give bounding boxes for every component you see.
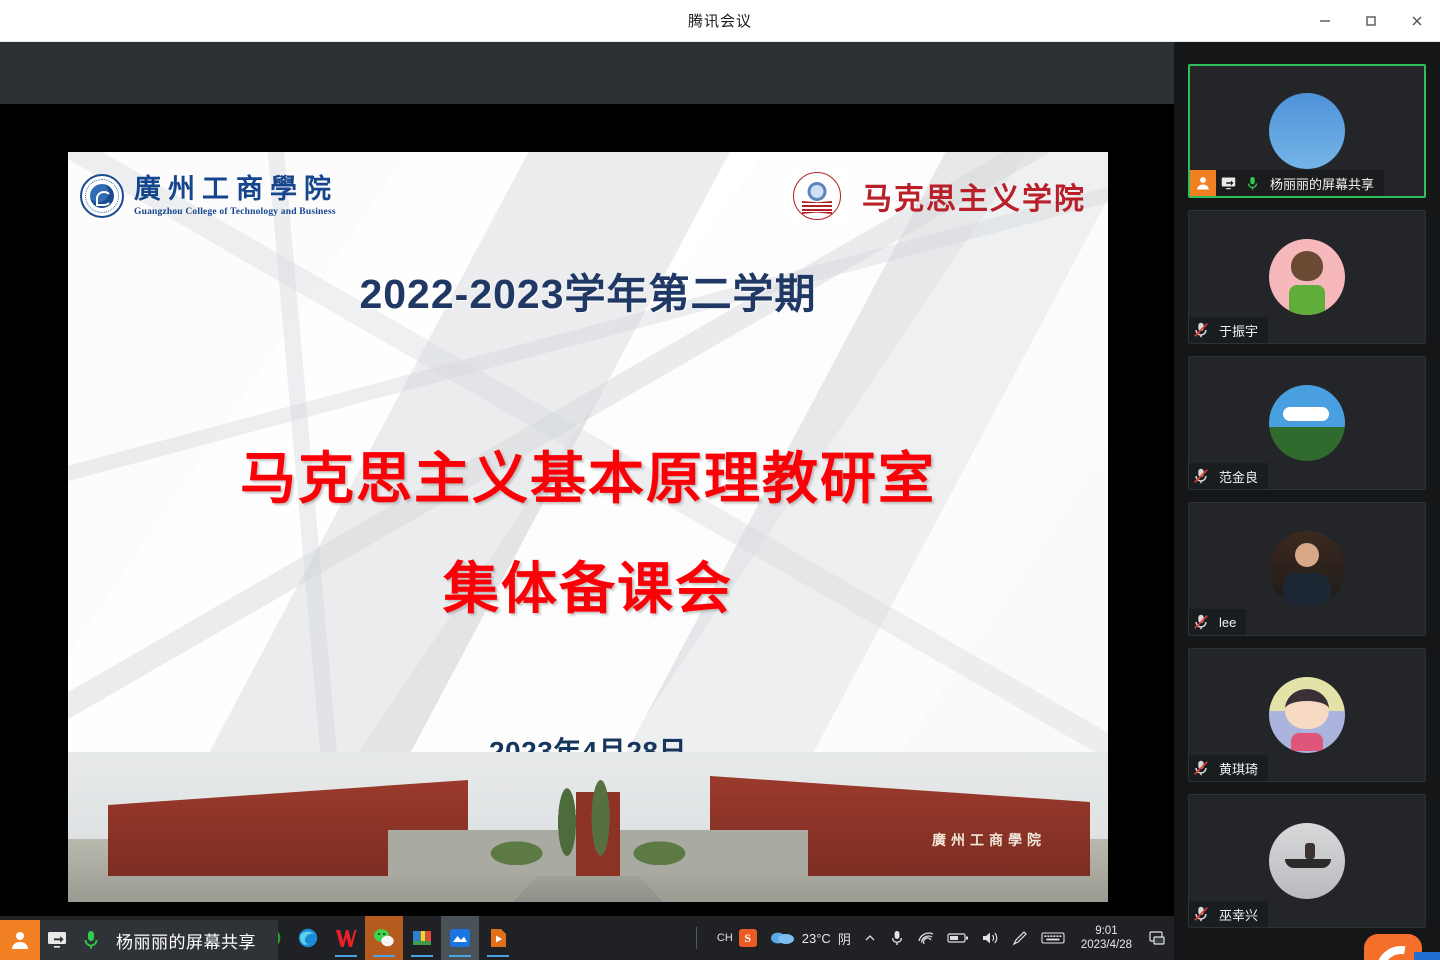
window-controls <box>1302 0 1440 42</box>
microphone-muted-icon <box>1189 321 1213 339</box>
chevron-up-icon[interactable] <box>863 931 877 945</box>
window-title: 腾讯会议 <box>688 10 752 31</box>
microphone-on-icon <box>1240 175 1264 192</box>
presenter-name: 杨丽丽的屏幕共享 <box>116 928 256 953</box>
ime-label: CH <box>717 932 733 944</box>
remote-desktop: 廣州工商學院 Guangzhou College of Technology a… <box>0 104 1174 960</box>
participant-tile-huangqiqi[interactable]: 黄琪琦 <box>1188 648 1426 782</box>
avatar <box>1269 677 1345 753</box>
participant-tile-lee[interactable]: lee <box>1188 502 1426 636</box>
tile-badge: 范金良 <box>1189 463 1268 489</box>
title-bar: 腾讯会议 <box>0 0 1440 42</box>
university-name-cn: 廣州工商學院 <box>134 175 338 205</box>
keyboard-icon[interactable] <box>1041 931 1065 945</box>
maximize-button[interactable] <box>1348 0 1394 42</box>
weather-indicator[interactable]: 23°C 阴 <box>769 929 851 948</box>
microphone-muted-icon <box>1189 759 1213 777</box>
microphone-muted-icon <box>1189 905 1213 923</box>
close-button[interactable] <box>1394 0 1440 42</box>
tile-badge: lee <box>1189 609 1246 635</box>
slide-title-line1: 马克思主义基本原理教研室 <box>68 434 1108 515</box>
microphone-icon[interactable] <box>889 929 905 947</box>
wps-office-icon[interactable] <box>327 916 365 960</box>
slide-title-line2: 集体备课会 <box>68 544 1108 625</box>
clock-date: 2023/4/28 <box>1081 938 1132 952</box>
clock-time: 9:01 <box>1081 924 1132 938</box>
tencent-meeting-window: 腾讯会议 廣州工商 <box>0 0 1440 960</box>
remote-desktop-top-strip <box>0 42 1174 104</box>
university-seal-icon <box>80 174 124 218</box>
minimize-button[interactable] <box>1302 0 1348 42</box>
microsoft-edge-icon[interactable] <box>289 916 327 960</box>
system-tray[interactable]: CH S 23°C 阴 <box>688 924 1174 953</box>
school-of-marxism-logo: 马克思主义学院 <box>786 170 1086 222</box>
participant-name: 黄琪琦 <box>1219 759 1258 778</box>
avatar <box>1269 93 1345 169</box>
winrar-icon[interactable] <box>403 916 441 960</box>
avatar <box>1269 239 1345 315</box>
presentation-slide: 廣州工商學院 Guangzhou College of Technology a… <box>68 152 1108 902</box>
university-name-en: Guangzhou College of Technology and Busi… <box>134 207 338 217</box>
avatar <box>1269 385 1345 461</box>
microphone-on-icon <box>74 929 108 951</box>
participant-tile-yanglili[interactable]: 杨丽丽的屏幕共享 <box>1188 64 1426 198</box>
tile-badge: 杨丽丽的屏幕共享 <box>1190 170 1384 196</box>
university-logo: 廣州工商學院 Guangzhou College of Technology a… <box>80 174 338 218</box>
participant-name: 于振宇 <box>1219 321 1258 340</box>
wps-presentation-icon[interactable] <box>479 916 517 960</box>
tile-badge: 于振宇 <box>1189 317 1268 343</box>
cloud-icon <box>769 929 795 948</box>
presenter-share-label: 杨丽丽的屏幕共享 <box>0 920 278 960</box>
campus-photo: 廣州工商學院 <box>68 752 1108 902</box>
notifications-icon[interactable] <box>1148 929 1166 947</box>
ime-indicator[interactable]: CH S <box>717 929 757 947</box>
xmind-icon[interactable] <box>441 916 479 960</box>
participant-name: 杨丽丽的屏幕共享 <box>1270 174 1374 193</box>
participant-name: 巫幸兴 <box>1219 905 1258 924</box>
pen-icon[interactable] <box>1011 929 1029 947</box>
tile-badge: 黄琪琦 <box>1189 755 1268 781</box>
weather-condition: 阴 <box>838 929 851 948</box>
taskbar-clock[interactable]: 9:01 2023/4/28 <box>1077 924 1136 953</box>
participant-name: 范金良 <box>1219 467 1258 486</box>
weather-temperature: 23°C <box>802 931 831 946</box>
slide-subtitle: 2022-2023学年第二学期 <box>68 260 1108 320</box>
tile-badge: 巫幸兴 <box>1189 901 1268 927</box>
campus-photo-caption: 廣州工商學院 <box>932 830 1046 850</box>
screen-share-icon <box>1216 176 1240 191</box>
microphone-muted-icon <box>1189 467 1213 485</box>
participant-name: lee <box>1219 615 1236 630</box>
person-icon <box>1190 170 1216 196</box>
participant-rail[interactable]: 杨丽丽的屏幕共享 于振宇 范金良 <box>1174 42 1440 960</box>
sogou-input-icon[interactable]: S <box>739 929 757 947</box>
participant-tile-yuzhenyu[interactable]: 于振宇 <box>1188 210 1426 344</box>
screen-share-icon <box>40 930 74 950</box>
participant-tile-fanjinliang[interactable]: 范金良 <box>1188 356 1426 490</box>
battery-icon[interactable] <box>947 932 969 944</box>
marxism-seal-icon <box>786 170 848 222</box>
shared-screen-view[interactable]: 廣州工商學院 Guangzhou College of Technology a… <box>0 42 1174 960</box>
avatar <box>1269 531 1345 607</box>
person-icon <box>0 920 40 960</box>
wechat-icon[interactable] <box>365 916 403 960</box>
school-name: 马克思主义学院 <box>862 174 1086 218</box>
avatar <box>1269 823 1345 899</box>
wifi-icon[interactable] <box>917 930 935 946</box>
participant-tile-wuxingxing[interactable]: 巫幸兴 <box>1188 794 1426 928</box>
volume-icon[interactable] <box>981 930 999 946</box>
microphone-muted-icon <box>1189 613 1213 631</box>
